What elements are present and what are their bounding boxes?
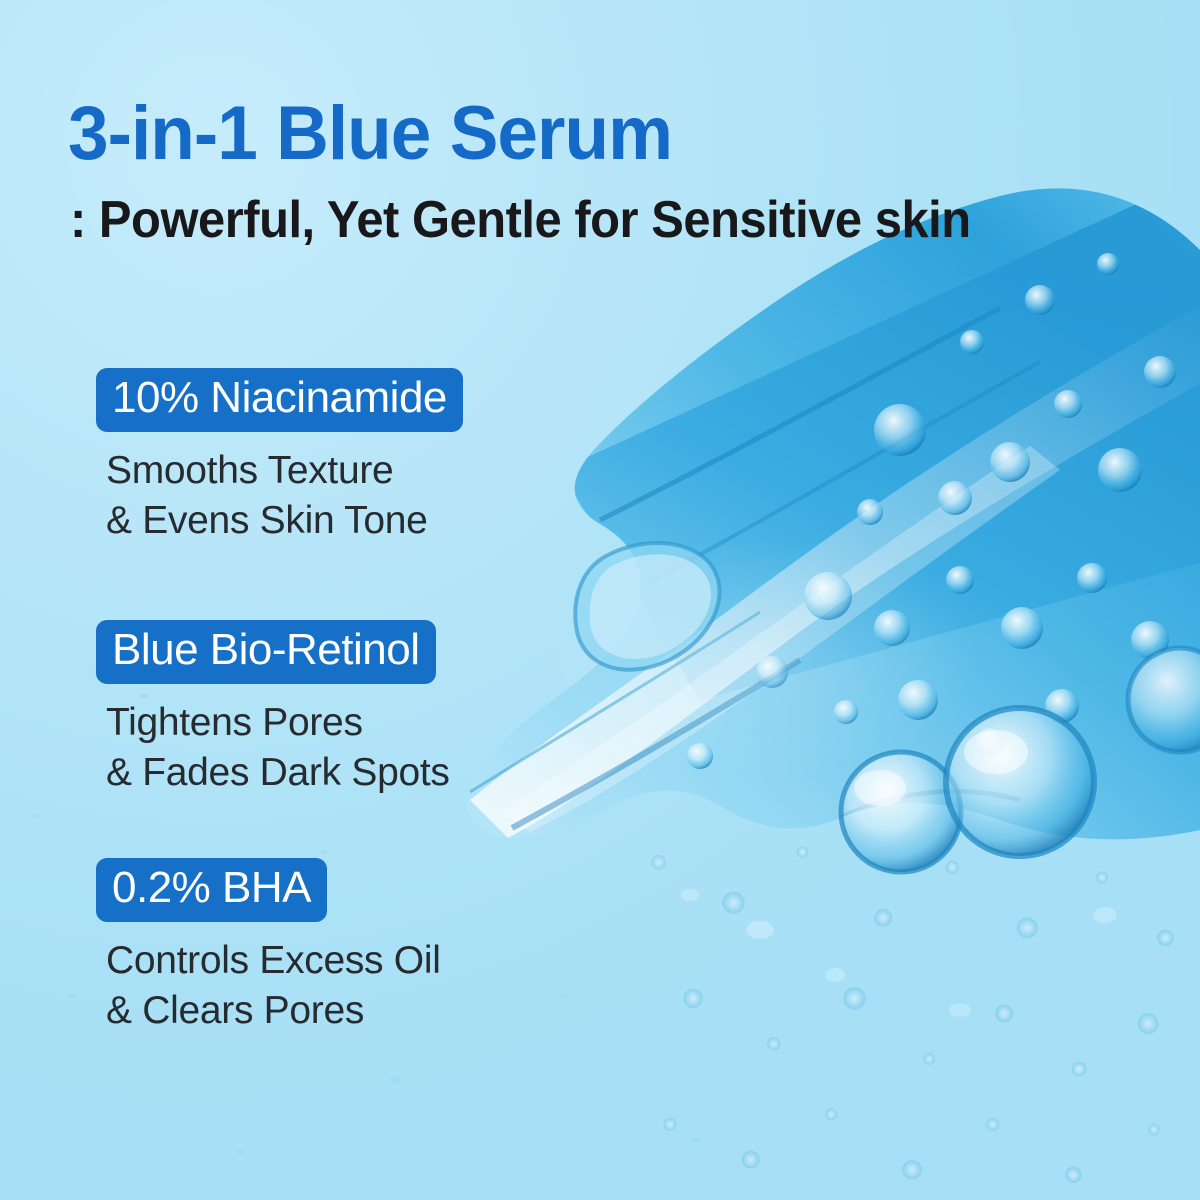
feature-description-niacinamide: Smooths Texture & Evens Skin Tone — [106, 446, 463, 545]
feature-item-blue-bio-retinol: Blue Bio-Retinol Tightens Pores & Fades … — [96, 620, 450, 797]
page-subtitle: : Powerful, Yet Gentle for Sensitive ski… — [70, 192, 971, 249]
feature-badge-bha: 0.2% BHA — [96, 858, 327, 922]
feature-badge-blue-bio-retinol: Blue Bio-Retinol — [96, 620, 436, 684]
page-title: 3-in-1 Blue Serum — [68, 96, 672, 172]
feature-item-bha: 0.2% BHA Controls Excess Oil & Clears Po… — [96, 858, 441, 1035]
feature-description-blue-bio-retinol: Tightens Pores & Fades Dark Spots — [106, 698, 450, 797]
product-poster: 3-in-1 Blue Serum : Powerful, Yet Gentle… — [0, 0, 1200, 1200]
feature-badge-niacinamide: 10% Niacinamide — [96, 368, 463, 432]
feature-item-niacinamide: 10% Niacinamide Smooths Texture & Evens … — [96, 368, 463, 545]
feature-description-bha: Controls Excess Oil & Clears Pores — [106, 936, 441, 1035]
content-layer: 3-in-1 Blue Serum : Powerful, Yet Gentle… — [0, 0, 1200, 1200]
